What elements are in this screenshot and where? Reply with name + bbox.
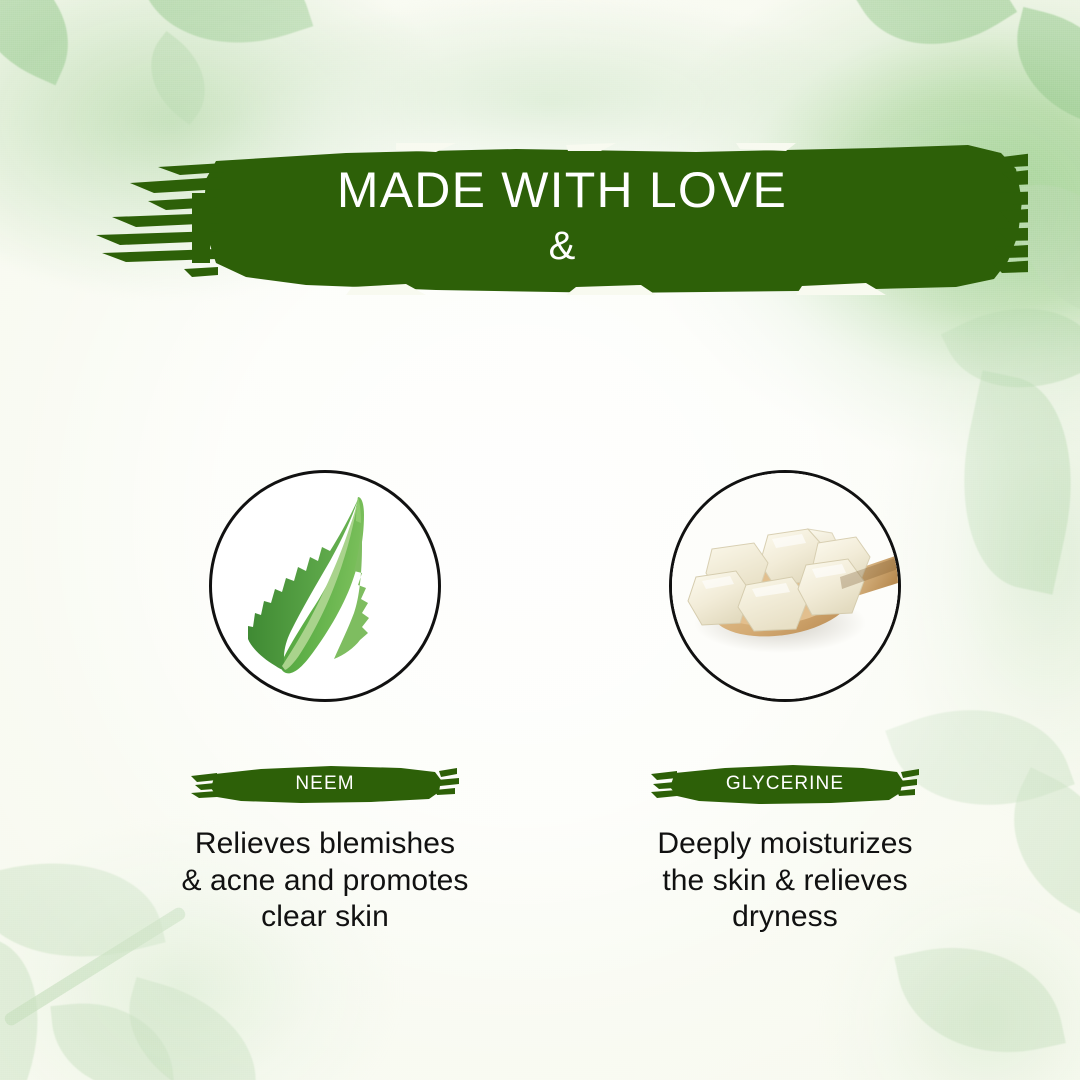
decorative-leaf-right-a xyxy=(941,275,1080,420)
glycerine-description: Deeply moisturizes the skin & relieves d… xyxy=(555,826,1015,936)
decorative-leaf-top-right-b xyxy=(1000,7,1080,129)
glycerine-description-line-1: Deeply moisturizes xyxy=(555,826,1015,863)
ingredient-card-glycerine: GLYCERINE Deeply moisturizes the skin & … xyxy=(555,470,1015,936)
decorative-leaf-top-right-a xyxy=(853,0,1017,81)
headline-brush-banner: MADE WITH LOVE & xyxy=(96,143,1028,295)
ingredient-card-neem: NEEM Relieves blemishes & acne and promo… xyxy=(95,470,555,936)
decorative-leaf-bottom-left-d xyxy=(109,977,276,1080)
decorative-leaf-top-left-a xyxy=(0,0,94,85)
neem-label-brush: NEEM xyxy=(191,762,459,806)
neem-description-line-1: Relieves blemishes xyxy=(95,826,555,863)
decorative-leaf-top-left-b xyxy=(137,0,314,72)
neem-description: Relieves blemishes & acne and promotes c… xyxy=(95,826,555,936)
decorative-leaf-bottom-left-b xyxy=(0,935,65,1080)
glycerine-description-line-3: dryness xyxy=(555,899,1015,936)
glycerine-label-brush: GLYCERINE xyxy=(651,762,919,806)
ingredient-name-neem: NEEM xyxy=(191,762,459,806)
ingredients-row: NEEM Relieves blemishes & acne and promo… xyxy=(0,470,1080,950)
glycerine-description-line-2: the skin & relieves xyxy=(555,863,1015,900)
product-benefits-poster: MADE WITH LOVE & xyxy=(0,0,1080,1080)
neem-image-circle xyxy=(209,470,441,702)
ingredient-name-glycerine: GLYCERINE xyxy=(651,762,919,806)
neem-description-line-2: & acne and promotes xyxy=(95,863,555,900)
glycerine-image-circle xyxy=(669,470,901,702)
decorative-leaf-bottom-left-c xyxy=(50,994,174,1080)
headline-text: MADE WITH LOVE xyxy=(337,164,787,217)
neem-leaf-icon xyxy=(212,473,438,699)
headline-ampersand: & xyxy=(549,223,576,269)
glycerine-cubes-icon xyxy=(672,473,898,699)
neem-description-line-3: clear skin xyxy=(95,899,555,936)
decorative-leaf-top-center xyxy=(130,31,227,125)
